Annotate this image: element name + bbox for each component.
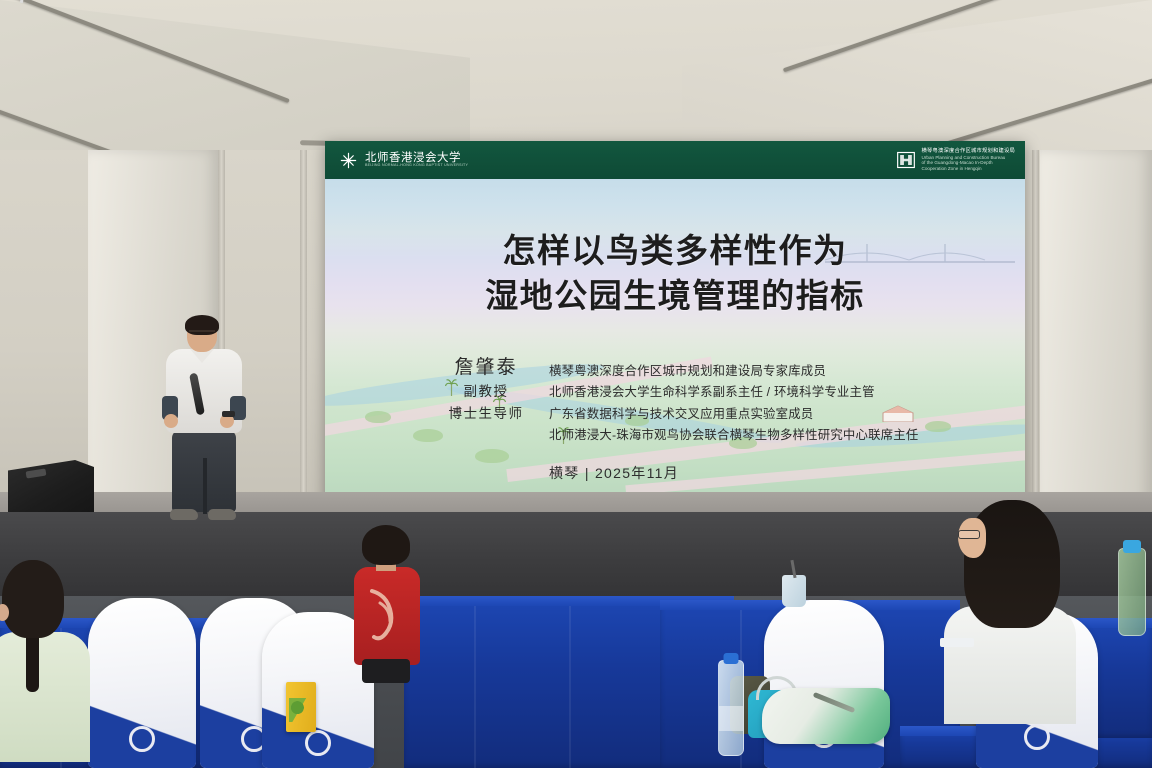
bureau-branding: 横琴粤澳深度合作区城市规划和建设局 Urban Planning and Con…	[896, 148, 1015, 171]
water-bottle-green[interactable]	[1118, 548, 1146, 636]
juice-box-label	[289, 698, 313, 722]
banquet-chair[interactable]	[88, 598, 196, 768]
water-bottle-clear[interactable]	[718, 660, 744, 756]
presenter-speaking	[160, 318, 248, 523]
presentation-date: 2025年11月	[595, 465, 679, 481]
chair-ring-buckle	[305, 730, 331, 756]
girl-left-foreground	[0, 560, 102, 768]
tent-lecture-scene: 北师香港浸会大学 BEIJING NORMAL-HONG KONG BAPTIS…	[0, 0, 1152, 768]
credential-line: 北师港浸大-珠海市观鸟协会联合横琴生物多样性研究中心联席主任	[549, 425, 999, 446]
shirt-graphic-print	[366, 581, 404, 651]
slide-title-line2: 湿地公园生境管理的指标	[325, 274, 1025, 319]
wristwatch	[222, 411, 235, 417]
child-hair	[362, 525, 410, 565]
tent-curtain-seam	[1032, 150, 1039, 510]
venue-name: 横琴	[549, 465, 580, 481]
stage-monitor-speaker	[8, 460, 94, 518]
bush-illustration	[413, 429, 443, 442]
presenter-credentials: 横琴粤澳深度合作区城市规划和建设局专家库成员 北师香港浸会大学生命科学系副系主任…	[549, 361, 999, 446]
venue-date-line: 横琴 | 2025年11月	[549, 463, 679, 483]
venue-separator: |	[585, 465, 590, 481]
presenter-info: 詹肇泰 副教授 博士生导师	[421, 357, 551, 423]
chair-ring-buckle	[129, 726, 155, 752]
tent-curtain-seam	[300, 150, 307, 510]
bush-illustration	[365, 411, 391, 423]
slide-content-area: 怎样以鸟类多样性作为 湿地公园生境管理的指标 詹肇泰 副教授 博士生导师 横琴粤…	[325, 179, 1025, 495]
credential-line: 北师香港浸会大学生命科学系副系主任 / 环境科学专业主管	[549, 382, 999, 403]
presenter-name: 詹肇泰	[421, 357, 551, 379]
bottle-cap	[724, 653, 739, 664]
credential-line: 广东省数据科学与技术交叉应用重点实验室成员	[549, 404, 999, 425]
presenter-leg-gap	[203, 458, 207, 514]
chair-ring-buckle	[1024, 724, 1050, 750]
presenter-shoe	[208, 509, 236, 520]
presenter-glasses	[189, 330, 215, 335]
presentation-screen[interactable]: 北师香港浸会大学 BEIJING NORMAL-HONG KONG BAPTIS…	[325, 141, 1025, 503]
bureau-name-cn: 横琴粤澳深度合作区城市规划和建设局	[922, 148, 1015, 154]
girl-braid	[26, 630, 39, 692]
university-name-en: BEIJING NORMAL-HONG KONG BAPTIST UNIVERS…	[365, 164, 468, 168]
woman-glasses	[958, 530, 980, 539]
presenter-hand	[164, 414, 178, 428]
bottle-label	[719, 706, 743, 730]
girl-top	[0, 632, 90, 762]
bottle-cap	[1123, 540, 1141, 553]
urban-planning-bureau-logo-icon	[896, 150, 916, 170]
bnu-hkbu-logo-icon	[339, 151, 358, 170]
woman-right-audience	[950, 500, 1078, 720]
bush-illustration	[475, 449, 509, 463]
presenter-shoe	[170, 509, 198, 520]
slide-header-bar: 北师香港浸会大学 BEIJING NORMAL-HONG KONG BAPTIS…	[325, 141, 1025, 179]
credential-line: 横琴粤澳深度合作区城市规划和建设局专家库成员	[549, 361, 999, 382]
child-pants	[362, 659, 410, 683]
juice-box[interactable]	[286, 682, 316, 732]
presenter-title-2: 博士生导师	[421, 404, 551, 423]
paper-on-table	[940, 638, 974, 647]
presenter-title-1: 副教授	[421, 382, 551, 401]
university-branding: 北师香港浸会大学 BEIJING NORMAL-HONG KONG BAPTIS…	[339, 151, 468, 170]
slide-title: 怎样以鸟类多样性作为 湿地公园生境管理的指标	[325, 229, 1025, 319]
child-red-shirt	[348, 525, 426, 685]
tent-curtain-right	[1040, 150, 1152, 510]
girl-hair	[2, 560, 64, 638]
drink-cup[interactable]	[782, 575, 806, 607]
slide-title-line1: 怎样以鸟类多样性作为	[325, 229, 1025, 274]
bureau-name-en-line3: Cooperation Zone in Hengqin	[922, 166, 1015, 172]
